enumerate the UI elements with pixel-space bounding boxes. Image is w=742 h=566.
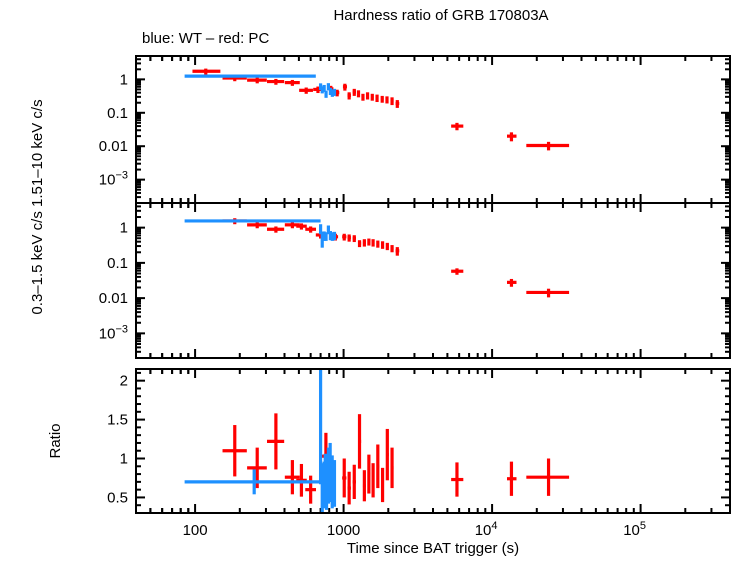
y-axis-ticklabel: 1.5 bbox=[107, 412, 128, 429]
y-axis-label-ratio: Ratio bbox=[47, 423, 64, 458]
y-axis-ticklabel: 0.1 bbox=[107, 105, 128, 122]
y-axis-ticklabel: 0.01 bbox=[99, 138, 128, 155]
x-axis-ticklabel: 1000 bbox=[327, 522, 360, 539]
y-axis-ticklabel: 1 bbox=[120, 220, 128, 237]
x-axis-label: Time since BAT trigger (s) bbox=[347, 540, 519, 557]
series-pc-panel1 bbox=[192, 69, 569, 151]
series-pc-panel2 bbox=[223, 218, 570, 297]
y-axis-ticklabel: 10−3 bbox=[99, 323, 128, 342]
y-axis-ticklabel: 0.1 bbox=[107, 255, 128, 272]
series-wt-panel1 bbox=[185, 75, 336, 98]
y-axis-ticklabel: 2 bbox=[120, 373, 128, 390]
hardness-ratio-figure: 10.10.0110−310.10.0110−321.510.510010001… bbox=[0, 0, 742, 566]
y-axis-ticklabel: 0.5 bbox=[107, 489, 128, 506]
y-axis-label-counts: 0.3–1.5 keV c/s 1.51–10 keV c/s bbox=[29, 99, 46, 314]
figure-title: Hardness ratio of GRB 170803A bbox=[333, 7, 548, 24]
panel-frame-2 bbox=[136, 203, 730, 358]
y-axis-ticklabel: 10−3 bbox=[99, 170, 128, 189]
x-axis-ticklabel: 100 bbox=[183, 522, 208, 539]
y-axis-ticklabel: 0.01 bbox=[99, 290, 128, 307]
panel-frame-3 bbox=[136, 369, 730, 513]
series-pc-panel3 bbox=[223, 413, 570, 504]
figure-subtitle: blue: WT – red: PC bbox=[142, 30, 269, 47]
y-axis-ticklabel: 1 bbox=[120, 71, 128, 88]
plot-canvas: 10.10.0110−310.10.0110−321.510.510010001… bbox=[0, 0, 742, 566]
y-axis-ticklabel: 1 bbox=[120, 451, 128, 468]
x-axis-ticklabel: 105 bbox=[623, 520, 646, 539]
x-axis-ticklabel: 104 bbox=[475, 520, 498, 539]
